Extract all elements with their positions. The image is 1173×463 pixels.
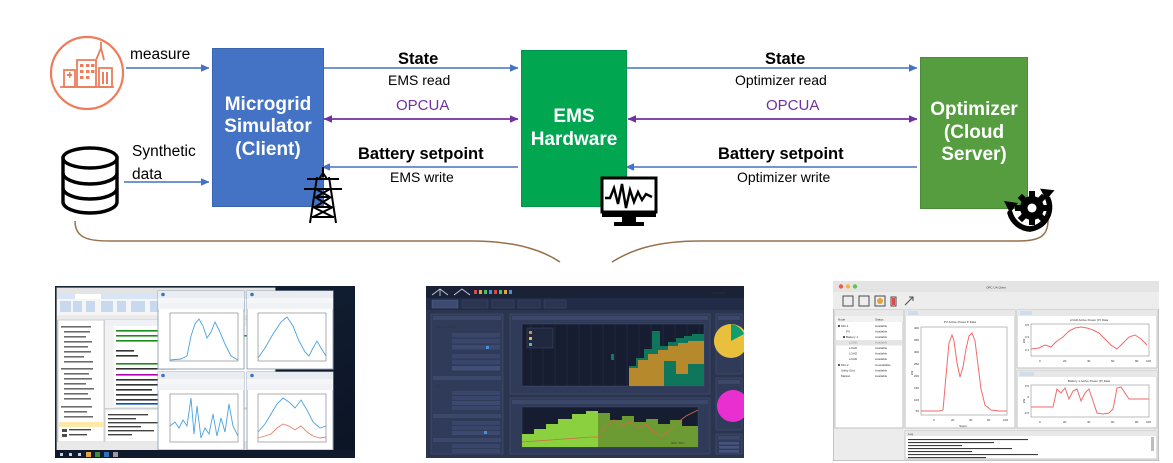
label-optimizer-write: Optimizer write <box>737 169 830 185</box>
svg-text:LOAD: LOAD <box>849 357 858 361</box>
svg-text:Steps: Steps <box>959 424 967 428</box>
label-ems-write: EMS write <box>390 169 454 185</box>
svg-text:0.5: 0.5 <box>1025 323 1030 327</box>
svg-text:Market: Market <box>841 374 850 378</box>
svg-text:Grid connected: Grid connected <box>436 325 457 329</box>
svg-text:OPC UA Client: OPC UA Client <box>986 286 1006 290</box>
svg-text:60: 60 <box>987 418 991 422</box>
label-measure: measure <box>130 46 190 64</box>
svg-text:20: 20 <box>951 418 955 422</box>
svg-text:kW: kW <box>1022 399 1026 404</box>
svg-text:Status: Status <box>875 318 884 322</box>
svg-text:Available: Available <box>875 335 887 339</box>
svg-text:0.1: 0.1 <box>1025 348 1030 352</box>
screenshot-matlab-simulator[interactable] <box>55 286 355 458</box>
svg-text:200: 200 <box>914 374 919 378</box>
svg-text:Available: Available <box>875 374 887 378</box>
label-repeat-loop: Repeat at each time step t <box>0 0 587 24</box>
svg-text:20: 20 <box>1063 420 1067 424</box>
svg-text:100: 100 <box>1003 418 1008 422</box>
svg-text:350: 350 <box>914 338 919 342</box>
svg-text:kW: kW <box>1022 339 1026 344</box>
label-opcua-right: OPCUA <box>766 97 819 114</box>
svg-text:20: 20 <box>1063 359 1067 363</box>
node-sim-line3: (Client) <box>224 139 312 161</box>
node-opt-line1: Optimizer <box>930 99 1018 121</box>
svg-text:Unavailable: Unavailable <box>875 363 891 367</box>
svg-text:80: 80 <box>1135 420 1139 424</box>
svg-text:Log: Log <box>908 432 913 436</box>
svg-text:40: 40 <box>969 418 973 422</box>
screenshot-optimizer-client[interactable]: OPC UA Client Node Status MG-1Available … <box>833 281 1159 461</box>
database-icon <box>57 140 123 220</box>
label-battery-setpoint-right: Battery setpoint <box>718 145 844 164</box>
node-opt-line3: Server) <box>930 144 1018 166</box>
node-sim-line1: Microgrid <box>224 94 312 116</box>
svg-text:60: 60 <box>1111 420 1115 424</box>
label-battery-setpoint-left: Battery setpoint <box>358 145 484 164</box>
svg-text:300: 300 <box>914 350 919 354</box>
svg-text:LOAD: LOAD <box>849 352 858 356</box>
svg-text:100: 100 <box>914 398 919 402</box>
screenshot-ems-dashboard[interactable]: SIEMENS Grid connected 6°C <box>426 286 744 458</box>
svg-text:-0.5: -0.5 <box>1024 411 1030 415</box>
svg-text:Available: Available <box>875 346 887 350</box>
svg-text:PV Active Power P Data: PV Active Power P Data <box>944 320 976 324</box>
svg-text:50: 50 <box>916 409 920 413</box>
svg-text:6°C: 6°C <box>436 384 442 388</box>
svg-text:SIEMENS: SIEMENS <box>712 291 726 295</box>
node-opt-line2: (Cloud <box>930 122 1018 144</box>
svg-text:80: 80 <box>1135 359 1139 363</box>
label-synthetic-data-line2: data <box>132 166 162 184</box>
svg-text:Available: Available <box>875 357 887 361</box>
svg-text:0.5: 0.5 <box>1025 384 1030 388</box>
svg-text:100: 100 <box>1146 420 1151 424</box>
svg-text:Available: Available <box>875 352 887 356</box>
label-state-right: State <box>765 50 805 69</box>
label-optimizer-read: Optimizer read <box>735 72 827 88</box>
svg-text:MG-1: MG-1 <box>841 324 849 328</box>
svg-text:100: 100 <box>1146 359 1151 363</box>
svg-text:LOAD Active Power (P) Data: LOAD Active Power (P) Data <box>1070 318 1109 322</box>
svg-text:Battery 1: Battery 1 <box>846 335 858 339</box>
microgrid-buildings-icon <box>48 34 126 112</box>
svg-text:Battery 1 Active Power (P) Dat: Battery 1 Active Power (P) Data <box>1068 379 1111 383</box>
svg-text:SOC TOU: SOC TOU <box>671 441 685 445</box>
svg-text:Available: Available <box>875 369 887 373</box>
svg-text:0.3: 0.3 <box>1025 335 1030 339</box>
svg-text:Available: Available <box>875 324 887 328</box>
svg-text:400: 400 <box>914 326 919 330</box>
monitor-waveform-icon <box>600 176 658 228</box>
label-state-left: State <box>398 50 438 69</box>
svg-text:Available: Available <box>875 330 887 334</box>
svg-text:Node: Node <box>838 318 846 322</box>
gear-refresh-icon <box>1000 177 1058 235</box>
svg-text:MG-2: MG-2 <box>841 363 849 367</box>
svg-text:40: 40 <box>1087 359 1091 363</box>
svg-text:PV: PV <box>846 330 850 334</box>
svg-text:Utility Grid: Utility Grid <box>841 369 855 373</box>
label-ems-read: EMS read <box>388 72 450 88</box>
svg-text:250: 250 <box>914 362 919 366</box>
diagram-canvas: Microgrid Simulator (Client) EMS Hardwar… <box>0 0 1173 463</box>
node-ems-line1: EMS <box>531 106 618 128</box>
label-synthetic-data-line1: Synthetic <box>132 143 196 161</box>
svg-text:LOAD: LOAD <box>849 346 858 350</box>
transmission-tower-icon <box>297 165 349 225</box>
label-opcua-left: OPCUA <box>396 97 449 114</box>
svg-text:60: 60 <box>1111 359 1115 363</box>
svg-text:kW: kW <box>910 371 914 376</box>
node-sim-line2: Simulator <box>224 116 312 138</box>
node-ems-line2: Hardware <box>531 129 618 151</box>
feedback-loop-path <box>75 220 1048 262</box>
svg-text:40: 40 <box>1087 420 1091 424</box>
svg-text:150: 150 <box>914 386 919 390</box>
